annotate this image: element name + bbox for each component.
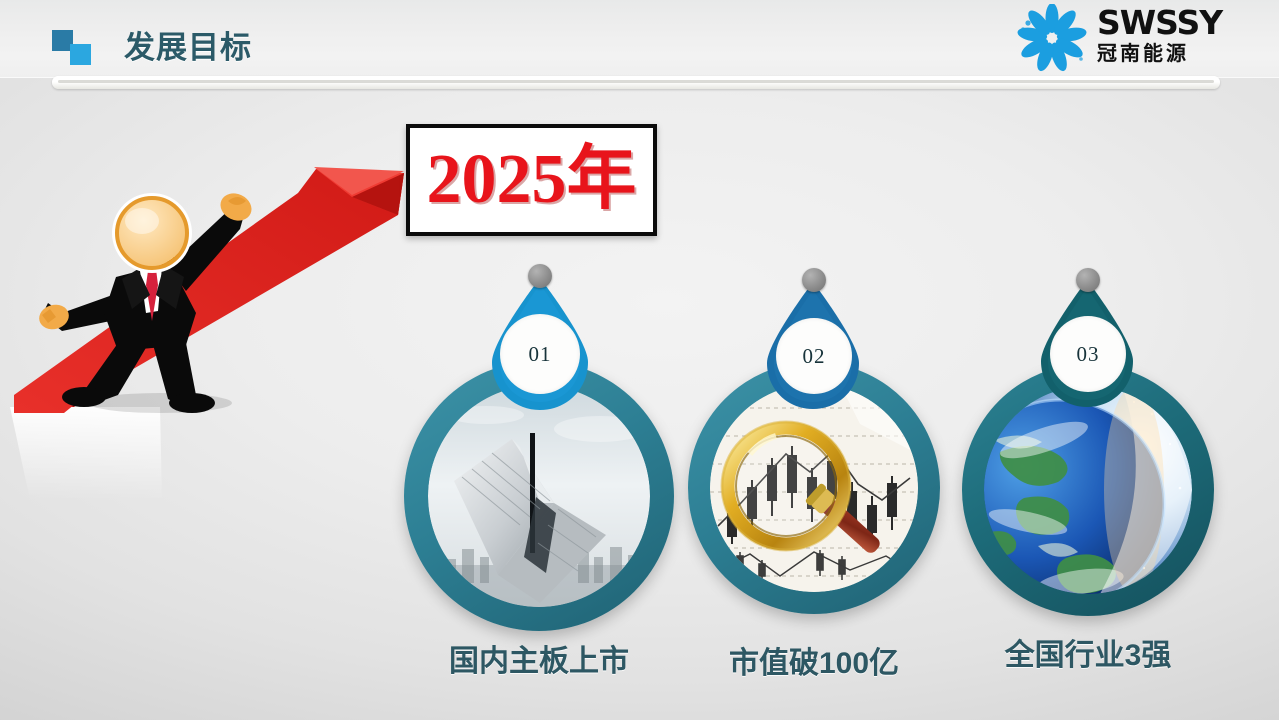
header-square-light-icon: [70, 44, 91, 65]
marker-image-03: [984, 386, 1192, 594]
marker-image-01: [428, 385, 650, 607]
logo-name-en: SWSSY: [1097, 6, 1222, 40]
page-title: 发展目标: [124, 22, 252, 67]
marker-caption-01: 国内主板上市: [404, 636, 674, 680]
year-badge-label: 2025年: [427, 145, 637, 215]
marker-pin-01: [528, 264, 552, 288]
marker-number-02: 02: [776, 318, 852, 394]
year-badge: 2025年: [406, 124, 657, 236]
marker-image-02: [710, 384, 918, 592]
marker-02[interactable]: 02: [688, 268, 940, 618]
marker-pin-03: [1076, 268, 1100, 292]
logo-name-cn: 冠南能源: [1097, 42, 1222, 66]
marker-number-03: 03: [1050, 316, 1126, 392]
flower-petals-icon: [1013, 4, 1091, 72]
businessman-on-rising-arrow-illustration: [0, 145, 420, 520]
slide-canvas: 发展目标: [0, 0, 1279, 720]
header-divider: [52, 76, 1220, 89]
marker-03[interactable]: 03: [962, 268, 1214, 618]
company-logo: SWSSY 冠南能源: [1013, 2, 1265, 74]
marker-caption-03: 全国行业3强: [962, 630, 1214, 674]
marker-01[interactable]: 01: [404, 262, 674, 622]
marker-caption-02: 市值破100亿: [688, 638, 940, 682]
marker-number-01: 01: [500, 314, 580, 394]
logo-wordmark: SWSSY 冠南能源: [1097, 6, 1222, 66]
marker-pin-02: [802, 268, 826, 292]
